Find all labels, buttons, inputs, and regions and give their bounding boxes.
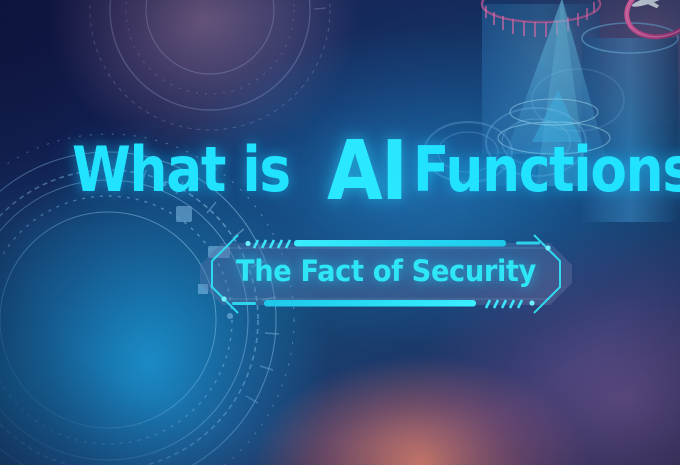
ai-functions-banner: What is AI Functions? xyxy=(0,0,680,465)
headline-part-1: What is xyxy=(72,139,290,201)
page-title: What is AI Functions? xyxy=(72,131,680,209)
circuit-arc-top-left-icon xyxy=(80,0,340,140)
subtitle-label: The Fact of Security xyxy=(198,221,574,321)
headline-part-2: Functions? xyxy=(413,139,680,201)
subtitle-hud-frame: The Fact of Security xyxy=(186,221,586,321)
headline-emphasis-ai: AI xyxy=(327,131,406,213)
